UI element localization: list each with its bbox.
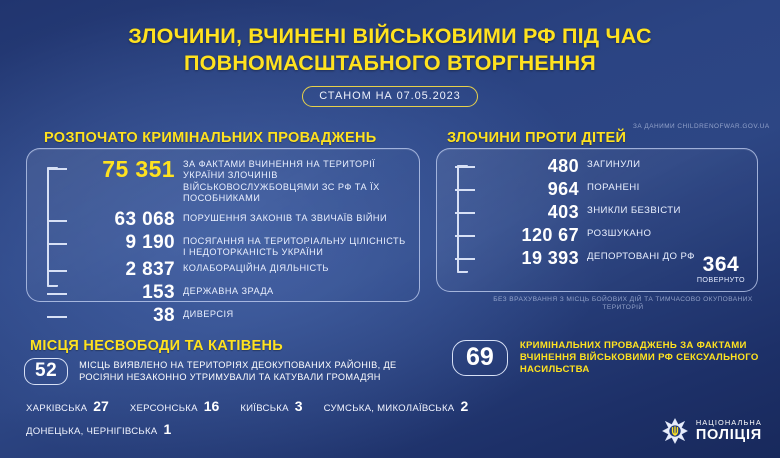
proceedings-row: 2 837 Колабораційна діяльність	[47, 259, 409, 281]
date-badge: СТАНОМ НА 07.05.2023	[302, 86, 477, 107]
region-name: Харківська	[26, 403, 87, 414]
children-returned-label: Повернуто	[697, 276, 745, 283]
proceedings-row: 9 190 Посягання на територіальну цілісні…	[47, 232, 409, 259]
header: ЗЛОЧИНИ, ВЧИНЕНІ ВІЙСЬКОВИМИ РФ ПІД ЧАС …	[0, 0, 780, 107]
region-value: 2	[460, 398, 468, 414]
region-item: Київська 3	[240, 398, 302, 414]
proceedings-row-list: 75 351 За фактами вчинення на території …	[47, 157, 409, 328]
proceedings-row: 75 351 За фактами вчинення на території …	[47, 157, 409, 205]
tick-marker-icon	[455, 235, 475, 237]
children-value: 964	[475, 178, 587, 200]
tick-marker-icon	[455, 166, 475, 168]
detention-count-badge: 52	[24, 358, 68, 385]
children-row: 403 Зникли безвісти	[455, 201, 747, 223]
children-row: 120 67 Розшукано	[455, 224, 747, 246]
logo-line-1: Національна	[696, 419, 762, 426]
page-title-line-2: ПОВНОМАСШТАБНОГО ВТОРГНЕННЯ	[0, 50, 780, 77]
proceedings-row: 153 Державна зрада	[47, 282, 409, 304]
region-value: 16	[204, 398, 220, 414]
proceedings-value: 38	[67, 305, 183, 327]
proceedings-value: 153	[67, 282, 183, 304]
logo-line-2: Поліція	[696, 428, 762, 443]
region-item: Херсонська 16	[130, 398, 220, 414]
children-value: 120 67	[475, 224, 587, 246]
region-name: Херсонська	[130, 403, 198, 414]
proceedings-value: 2 837	[67, 259, 183, 281]
children-source-attribution: За даними childrenofwar.gov.ua	[633, 123, 775, 131]
children-returned-value: 364	[697, 254, 745, 275]
region-item: Донецька, Чернігівська 1	[26, 421, 171, 437]
detention-regions-list: Харківська 27 Херсонська 16 Київська 3 С…	[26, 398, 446, 437]
proceedings-panel: 75 351 За фактами вчинення на території …	[26, 148, 420, 302]
children-value: 480	[475, 155, 587, 177]
tick-marker-icon	[47, 316, 67, 318]
tick-marker-icon	[455, 189, 475, 191]
tick-marker-icon	[455, 212, 475, 214]
proceedings-label: Порушення законів та звичаїв війни	[183, 209, 387, 224]
proceedings-label: Диверсія	[183, 305, 234, 320]
children-label: Зникли безвісти	[587, 201, 681, 216]
children-label: Поранені	[587, 178, 640, 193]
tick-marker-icon	[455, 258, 475, 260]
children-footnote: Без врахування з місць бойових дій та ти…	[490, 296, 756, 313]
proceedings-label: Колабораційна діяльність	[183, 259, 329, 274]
page-title-line-1: ЗЛОЧИНИ, ВЧИНЕНІ ВІЙСЬКОВИМИ РФ ПІД ЧАС	[0, 23, 780, 50]
proceedings-heading: РОЗПОЧАТО КРИМІНАЛЬНИХ ПРОВАДЖЕНЬ	[44, 130, 376, 146]
children-heading: ЗЛОЧИНИ ПРОТИ ДІТЕЙ	[447, 130, 626, 146]
detention-summary-row: 52 місць виявлено на територіях деокупов…	[24, 358, 436, 385]
children-value: 403	[475, 201, 587, 223]
children-row: 480 Загинули	[455, 155, 747, 177]
proceedings-row: 63 068 Порушення законів та звичаїв війн…	[47, 209, 409, 231]
tick-marker-icon	[47, 243, 67, 245]
national-police-logo: Національна Поліція	[662, 418, 762, 444]
detention-heading: МІСЦЯ НЕСВОБОДИ ТА КАТІВЕНЬ	[30, 338, 283, 354]
sexual-violence-count-badge: 69	[452, 340, 508, 376]
proceedings-label: Державна зрада	[183, 282, 274, 297]
children-label: Загинули	[587, 155, 640, 170]
police-star-badge-icon	[662, 418, 688, 444]
sexual-violence-description: Кримінальних проваджень за фактами вчине…	[520, 340, 780, 377]
proceedings-value: 63 068	[67, 209, 183, 231]
region-value: 1	[163, 421, 171, 437]
children-panel: 480 Загинули 964 Поранені 403 Зникли без…	[436, 148, 758, 292]
proceedings-label: За фактами вчинення на території України…	[183, 157, 409, 205]
sexual-violence-block: 69 Кримінальних проваджень за фактами вч…	[452, 340, 780, 377]
region-value: 3	[295, 398, 303, 414]
infographic-page: ЗЛОЧИНИ, ВЧИНЕНІ ВІЙСЬКОВИМИ РФ ПІД ЧАС …	[0, 0, 780, 458]
region-item: Харківська 27	[26, 398, 109, 414]
children-returned-stat: 364 Повернуто	[697, 254, 745, 283]
children-label: Депортовані до РФ	[587, 247, 695, 262]
children-label: Розшукано	[587, 224, 651, 239]
regions-row: Харківська 27 Херсонська 16 Київська 3 С…	[26, 398, 446, 414]
tick-marker-icon	[47, 270, 67, 272]
tick-marker-icon	[47, 220, 67, 222]
detention-block: 52 місць виявлено на територіях деокупов…	[24, 358, 436, 385]
children-row: 964 Поранені	[455, 178, 747, 200]
tick-marker-icon	[47, 293, 67, 295]
proceedings-value: 75 351	[67, 157, 183, 181]
proceedings-row: 38 Диверсія	[47, 305, 409, 327]
region-name: Сумська, Миколаївська	[324, 403, 455, 414]
region-name: Донецька, Чернігівська	[26, 426, 157, 437]
logo-text: Національна Поліція	[696, 419, 762, 443]
tick-marker-icon	[47, 168, 67, 170]
children-value: 19 393	[475, 247, 587, 269]
region-item: Сумська, Миколаївська 2	[324, 398, 469, 414]
proceedings-label: Посягання на територіальну цілісність і …	[183, 232, 409, 259]
detention-description: місць виявлено на територіях деокуповани…	[79, 360, 436, 383]
regions-row: Донецька, Чернігівська 1	[26, 421, 446, 437]
region-value: 27	[93, 398, 109, 414]
region-name: Київська	[240, 403, 288, 414]
proceedings-value: 9 190	[67, 232, 183, 254]
